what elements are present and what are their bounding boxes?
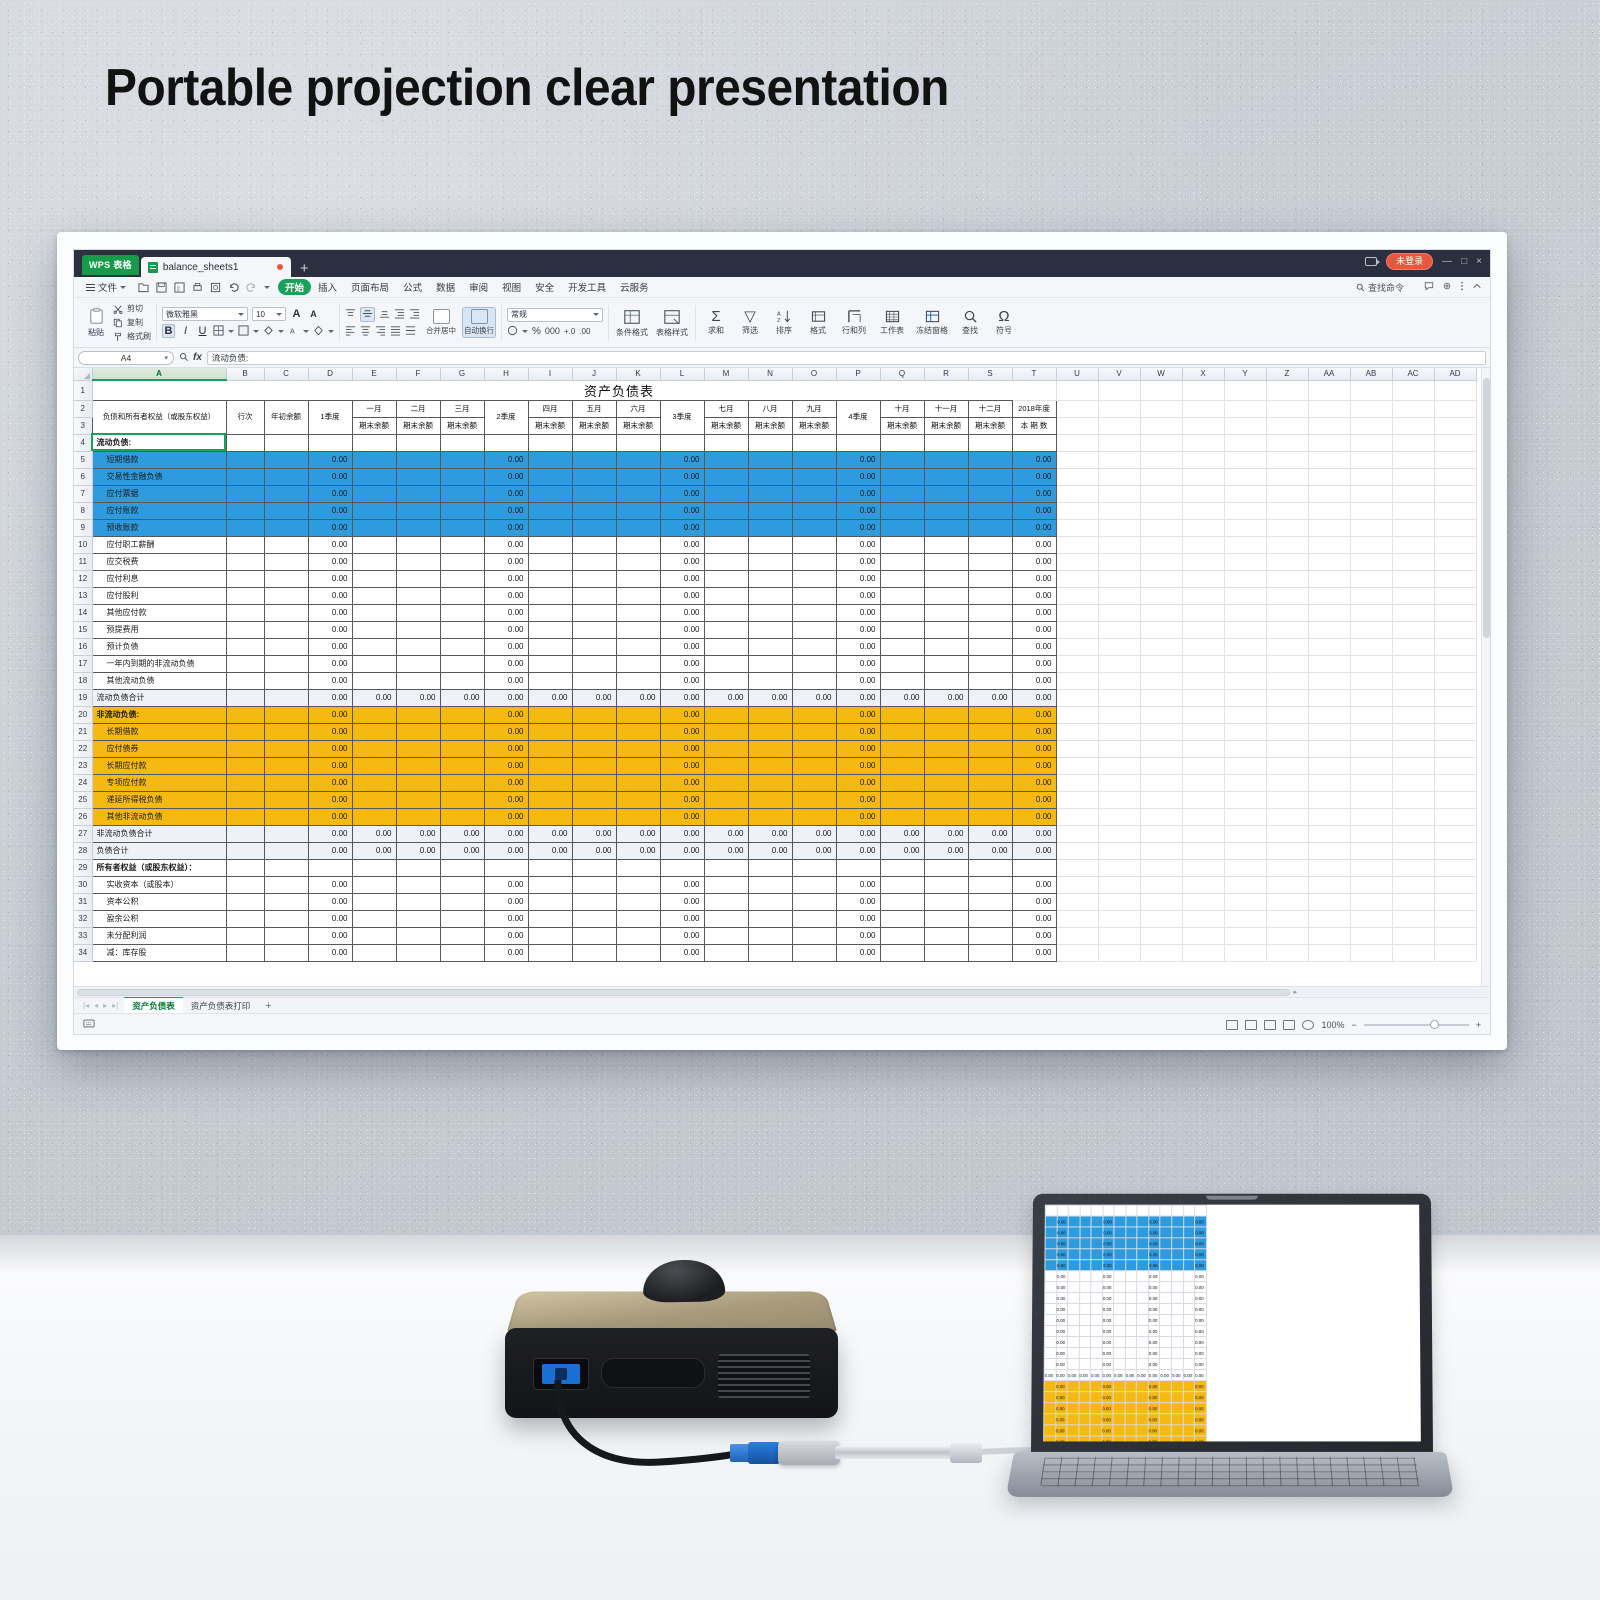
cell-D8[interactable]: 0.00 — [308, 502, 352, 519]
fx-icon[interactable]: fx — [193, 352, 202, 363]
cell-AB28[interactable] — [1350, 842, 1392, 859]
cell-N5[interactable] — [748, 451, 792, 468]
cell-U21[interactable] — [1056, 723, 1098, 740]
cell-AA8[interactable] — [1308, 502, 1350, 519]
row-header-25[interactable]: 25 — [74, 791, 92, 808]
cell-AC6[interactable] — [1392, 468, 1434, 485]
cell-S11[interactable] — [968, 553, 1012, 570]
cell-F26[interactable] — [396, 808, 440, 825]
cell-Z30[interactable] — [1266, 876, 1308, 893]
cell-V33[interactable] — [1098, 927, 1140, 944]
cell-C25[interactable] — [264, 791, 308, 808]
bold-button[interactable]: B — [162, 324, 175, 338]
first-sheet-icon[interactable]: |◂ — [83, 1001, 89, 1010]
formula-input[interactable]: 流动负债: — [207, 351, 1486, 365]
header-cell[interactable]: 十月 — [880, 400, 924, 417]
row-header-9[interactable]: 9 — [74, 519, 92, 536]
cell-F34[interactable] — [396, 944, 440, 961]
cell-F23[interactable] — [396, 757, 440, 774]
cell-T6[interactable]: 0.00 — [1012, 468, 1056, 485]
cell-S7[interactable] — [968, 485, 1012, 502]
cell-D17[interactable]: 0.00 — [308, 655, 352, 672]
cell-O34[interactable] — [792, 944, 836, 961]
cell-G10[interactable] — [440, 536, 484, 553]
cell-B7[interactable] — [226, 485, 264, 502]
cell-AB24[interactable] — [1350, 774, 1392, 791]
cell-R29[interactable] — [924, 859, 968, 876]
cell-F27[interactable]: 0.00 — [396, 825, 440, 842]
cell-AC26[interactable] — [1392, 808, 1434, 825]
cell-H12[interactable]: 0.00 — [484, 570, 528, 587]
cell-AC1[interactable] — [1392, 380, 1434, 400]
cell-X34[interactable] — [1182, 944, 1224, 961]
cell-Z22[interactable] — [1266, 740, 1308, 757]
cell-G15[interactable] — [440, 621, 484, 638]
cell-AC9[interactable] — [1392, 519, 1434, 536]
cell-Y1[interactable] — [1224, 380, 1266, 400]
cell-F13[interactable] — [396, 587, 440, 604]
cell-T34[interactable]: 0.00 — [1012, 944, 1056, 961]
cell-AB11[interactable] — [1350, 553, 1392, 570]
cell-AC11[interactable] — [1392, 553, 1434, 570]
cell-G11[interactable] — [440, 553, 484, 570]
cell-D32[interactable]: 0.00 — [308, 910, 352, 927]
row-label-29[interactable]: 所有者权益（或股东权益）： — [92, 859, 226, 876]
underline-button[interactable]: U — [196, 325, 209, 337]
column-header-C[interactable]: C — [264, 368, 308, 380]
cell-K13[interactable] — [616, 587, 660, 604]
cell-V3[interactable] — [1098, 417, 1140, 434]
cell-T18[interactable]: 0.00 — [1012, 672, 1056, 689]
cell-W27[interactable] — [1140, 825, 1182, 842]
cell-AA20[interactable] — [1308, 706, 1350, 723]
cell-B23[interactable] — [226, 757, 264, 774]
cell-X17[interactable] — [1182, 655, 1224, 672]
cell-T10[interactable]: 0.00 — [1012, 536, 1056, 553]
keyboard-shortcut-icon[interactable] — [83, 1016, 95, 1034]
header-cell[interactable]: 六月 — [616, 400, 660, 417]
cell-AC29[interactable] — [1392, 859, 1434, 876]
cell-V16[interactable] — [1098, 638, 1140, 655]
cell-S32[interactable] — [968, 910, 1012, 927]
cell-R28[interactable]: 0.00 — [924, 842, 968, 859]
cell-Q5[interactable] — [880, 451, 924, 468]
cell-H10[interactable]: 0.00 — [484, 536, 528, 553]
row-header-20[interactable]: 20 — [74, 706, 92, 723]
cell-G21[interactable] — [440, 723, 484, 740]
cell-N17[interactable] — [748, 655, 792, 672]
cell-K16[interactable] — [616, 638, 660, 655]
cell-L29[interactable] — [660, 859, 704, 876]
cell-I17[interactable] — [528, 655, 572, 672]
spreadsheet-grid[interactable]: ABCDEFGHIJKLMNOPQRSTUVWXYZAAABACAD1资产负债表… — [74, 368, 1490, 986]
cell-J24[interactable] — [572, 774, 616, 791]
tab-data[interactable]: 数据 — [429, 279, 462, 295]
cell-E16[interactable] — [352, 638, 396, 655]
cell-V8[interactable] — [1098, 502, 1140, 519]
cell-U32[interactable] — [1056, 910, 1098, 927]
cell-U11[interactable] — [1056, 553, 1098, 570]
cell-F25[interactable] — [396, 791, 440, 808]
cell-I5[interactable] — [528, 451, 572, 468]
cell-G5[interactable] — [440, 451, 484, 468]
cell-T4[interactable] — [1012, 434, 1056, 451]
cell-O20[interactable] — [792, 706, 836, 723]
cell-AD4[interactable] — [1434, 434, 1476, 451]
cell-O17[interactable] — [792, 655, 836, 672]
cell-AC32[interactable] — [1392, 910, 1434, 927]
header-cell[interactable]: 四月 — [528, 400, 572, 417]
cell-U9[interactable] — [1056, 519, 1098, 536]
cell-K32[interactable] — [616, 910, 660, 927]
cell-C10[interactable] — [264, 536, 308, 553]
cell-K18[interactable] — [616, 672, 660, 689]
cell-P15[interactable]: 0.00 — [836, 621, 880, 638]
row-label-24[interactable]: 专项应付款 — [92, 774, 226, 791]
cell-Z18[interactable] — [1266, 672, 1308, 689]
cell-B21[interactable] — [226, 723, 264, 740]
cell-J12[interactable] — [572, 570, 616, 587]
cell-L25[interactable]: 0.00 — [660, 791, 704, 808]
column-header-AA[interactable]: AA — [1308, 368, 1350, 380]
cell-N25[interactable] — [748, 791, 792, 808]
cell-K27[interactable]: 0.00 — [616, 825, 660, 842]
tab-security[interactable]: 安全 — [528, 279, 561, 295]
cell-F29[interactable] — [396, 859, 440, 876]
cell-C19[interactable] — [264, 689, 308, 706]
cell-S29[interactable] — [968, 859, 1012, 876]
table-row[interactable]: 34减：库存股0.000.000.000.000.00 — [74, 944, 1476, 961]
cell-Q11[interactable] — [880, 553, 924, 570]
row-header-33[interactable]: 33 — [74, 927, 92, 944]
cell-V6[interactable] — [1098, 468, 1140, 485]
cell-S22[interactable] — [968, 740, 1012, 757]
cell-U26[interactable] — [1056, 808, 1098, 825]
cell-O30[interactable] — [792, 876, 836, 893]
cell-style-button[interactable] — [238, 325, 249, 338]
cell-AD19[interactable] — [1434, 689, 1476, 706]
cell-H9[interactable]: 0.00 — [484, 519, 528, 536]
decrease-indent-button[interactable] — [394, 308, 405, 321]
cell-T15[interactable]: 0.00 — [1012, 621, 1056, 638]
column-header-B[interactable]: B — [226, 368, 264, 380]
cell-I33[interactable] — [528, 927, 572, 944]
cell-C18[interactable] — [264, 672, 308, 689]
cell-AB6[interactable] — [1350, 468, 1392, 485]
cell-T32[interactable]: 0.00 — [1012, 910, 1056, 927]
last-sheet-icon[interactable]: ▸| — [112, 1001, 118, 1010]
cell-Z8[interactable] — [1266, 502, 1308, 519]
table-row[interactable]: 9预收账款0.000.000.000.000.00 — [74, 519, 1476, 536]
header-cell[interactable]: 期末余额 — [572, 417, 616, 434]
cell-D22[interactable]: 0.00 — [308, 740, 352, 757]
cell-R31[interactable] — [924, 893, 968, 910]
header-cell[interactable]: 期末余额 — [528, 417, 572, 434]
row-label-16[interactable]: 预计负债 — [92, 638, 226, 655]
table-row[interactable]: 18其他流动负债0.000.000.000.000.00 — [74, 672, 1476, 689]
cell-G30[interactable] — [440, 876, 484, 893]
zoom-formula-icon[interactable] — [179, 352, 189, 364]
cell-X5[interactable] — [1182, 451, 1224, 468]
cell-AD1[interactable] — [1434, 380, 1476, 400]
cell-E15[interactable] — [352, 621, 396, 638]
cell-B16[interactable] — [226, 638, 264, 655]
cell-O26[interactable] — [792, 808, 836, 825]
cell-Y26[interactable] — [1224, 808, 1266, 825]
cell-P34[interactable]: 0.00 — [836, 944, 880, 961]
cell-T17[interactable]: 0.00 — [1012, 655, 1056, 672]
cell-X23[interactable] — [1182, 757, 1224, 774]
horizontal-scroll-thumb[interactable] — [77, 989, 1290, 996]
cell-V5[interactable] — [1098, 451, 1140, 468]
cell-L7[interactable]: 0.00 — [660, 485, 704, 502]
cell-E29[interactable] — [352, 859, 396, 876]
cell-Z21[interactable] — [1266, 723, 1308, 740]
cell-L21[interactable]: 0.00 — [660, 723, 704, 740]
cell-N30[interactable] — [748, 876, 792, 893]
cell-AD22[interactable] — [1434, 740, 1476, 757]
cell-AB10[interactable] — [1350, 536, 1392, 553]
cell-W3[interactable] — [1140, 417, 1182, 434]
vertical-scroll-thumb[interactable] — [1483, 378, 1490, 638]
row-label-5[interactable]: 短期借款 — [92, 451, 226, 468]
chevron-down-icon[interactable] — [253, 330, 259, 333]
cell-Y18[interactable] — [1224, 672, 1266, 689]
table-row[interactable]: 26其他非流动负债0.000.000.000.000.00 — [74, 808, 1476, 825]
cell-L18[interactable]: 0.00 — [660, 672, 704, 689]
row-label-10[interactable]: 应付职工薪酬 — [92, 536, 226, 553]
cell-Z15[interactable] — [1266, 621, 1308, 638]
header-cell[interactable]: 二月 — [396, 400, 440, 417]
cell-U17[interactable] — [1056, 655, 1098, 672]
cell-X6[interactable] — [1182, 468, 1224, 485]
collapse-ribbon-icon[interactable] — [1472, 281, 1482, 294]
cell-K23[interactable] — [616, 757, 660, 774]
cell-B18[interactable] — [226, 672, 264, 689]
table-row[interactable]: 14其他应付款0.000.000.000.000.00 — [74, 604, 1476, 621]
cell-W7[interactable] — [1140, 485, 1182, 502]
header-cell[interactable]: 期末余额 — [880, 417, 924, 434]
cell-F32[interactable] — [396, 910, 440, 927]
cell-X19[interactable] — [1182, 689, 1224, 706]
cell-K21[interactable] — [616, 723, 660, 740]
chevron-down-icon[interactable] — [278, 330, 284, 333]
cell-C11[interactable] — [264, 553, 308, 570]
cell-M19[interactable]: 0.00 — [704, 689, 748, 706]
header-cell[interactable]: 本 期 数 — [1012, 417, 1056, 434]
cell-V18[interactable] — [1098, 672, 1140, 689]
header-opening[interactable]: 年初余额 — [264, 400, 308, 434]
cell-I29[interactable] — [528, 859, 572, 876]
cell-N13[interactable] — [748, 587, 792, 604]
cell-W34[interactable] — [1140, 944, 1182, 961]
cell-Z11[interactable] — [1266, 553, 1308, 570]
cell-O29[interactable] — [792, 859, 836, 876]
merge-center-button[interactable]: 合并居中 — [424, 309, 458, 336]
cell-C4[interactable] — [264, 434, 308, 451]
row-label-9[interactable]: 预收账款 — [92, 519, 226, 536]
cell-AA26[interactable] — [1308, 808, 1350, 825]
cell-M25[interactable] — [704, 791, 748, 808]
cell-C23[interactable] — [264, 757, 308, 774]
table-row[interactable]: 31资本公积0.000.000.000.000.00 — [74, 893, 1476, 910]
cell-N10[interactable] — [748, 536, 792, 553]
header-q4[interactable]: 4季度 — [836, 400, 880, 434]
cell-B13[interactable] — [226, 587, 264, 604]
cell-AD12[interactable] — [1434, 570, 1476, 587]
cell-M12[interactable] — [704, 570, 748, 587]
cell-AC21[interactable] — [1392, 723, 1434, 740]
cell-D14[interactable]: 0.00 — [308, 604, 352, 621]
cell-L13[interactable]: 0.00 — [660, 587, 704, 604]
table-row[interactable]: 33未分配利润0.000.000.000.000.00 — [74, 927, 1476, 944]
cell-B14[interactable] — [226, 604, 264, 621]
cell-AD27[interactable] — [1434, 825, 1476, 842]
cell-R33[interactable] — [924, 927, 968, 944]
cell-E27[interactable]: 0.00 — [352, 825, 396, 842]
cell-Y31[interactable] — [1224, 893, 1266, 910]
cell-Q16[interactable] — [880, 638, 924, 655]
cell-L22[interactable]: 0.00 — [660, 740, 704, 757]
column-header-X[interactable]: X — [1182, 368, 1224, 380]
cell-S25[interactable] — [968, 791, 1012, 808]
cell-U20[interactable] — [1056, 706, 1098, 723]
column-header-H[interactable]: H — [484, 368, 528, 380]
cell-O6[interactable] — [792, 468, 836, 485]
cell-AA5[interactable] — [1308, 451, 1350, 468]
worksheet-button[interactable]: 工作表 — [875, 309, 909, 336]
sheet-tab-balance[interactable]: 资产负债表 — [124, 997, 183, 1014]
number-format-select[interactable]: 常规 — [507, 308, 603, 322]
cell-AB1[interactable] — [1350, 380, 1392, 400]
row-label-8[interactable]: 应付账款 — [92, 502, 226, 519]
cell-H29[interactable] — [484, 859, 528, 876]
cell-I16[interactable] — [528, 638, 572, 655]
cell-F6[interactable] — [396, 468, 440, 485]
cell-W25[interactable] — [1140, 791, 1182, 808]
cell-I15[interactable] — [528, 621, 572, 638]
cell-AD32[interactable] — [1434, 910, 1476, 927]
cell-M7[interactable] — [704, 485, 748, 502]
cell-J16[interactable] — [572, 638, 616, 655]
cell-V9[interactable] — [1098, 519, 1140, 536]
cell-I22[interactable] — [528, 740, 572, 757]
cell-AB31[interactable] — [1350, 893, 1392, 910]
cell-R25[interactable] — [924, 791, 968, 808]
column-header-D[interactable]: D — [308, 368, 352, 380]
cell-T23[interactable]: 0.00 — [1012, 757, 1056, 774]
cell-P11[interactable]: 0.00 — [836, 553, 880, 570]
cell-Z31[interactable] — [1266, 893, 1308, 910]
cell-B28[interactable] — [226, 842, 264, 859]
cell-I11[interactable] — [528, 553, 572, 570]
cell-E5[interactable] — [352, 451, 396, 468]
cell-C6[interactable] — [264, 468, 308, 485]
cell-G7[interactable] — [440, 485, 484, 502]
chevron-down-icon[interactable] — [228, 330, 234, 333]
cell-C7[interactable] — [264, 485, 308, 502]
cell-AB15[interactable] — [1350, 621, 1392, 638]
cell-F14[interactable] — [396, 604, 440, 621]
cell-G9[interactable] — [440, 519, 484, 536]
cell-AD14[interactable] — [1434, 604, 1476, 621]
qat-chevron-icon[interactable] — [264, 286, 270, 289]
column-header-J[interactable]: J — [572, 368, 616, 380]
cell-Z27[interactable] — [1266, 825, 1308, 842]
cell-F9[interactable] — [396, 519, 440, 536]
cell-K14[interactable] — [616, 604, 660, 621]
cell-M31[interactable] — [704, 893, 748, 910]
cell-K8[interactable] — [616, 502, 660, 519]
cell-R12[interactable] — [924, 570, 968, 587]
cell-O23[interactable] — [792, 757, 836, 774]
cell-Q10[interactable] — [880, 536, 924, 553]
header-line-no[interactable]: 行次 — [226, 400, 264, 434]
settings-gear-icon[interactable] — [1442, 281, 1452, 294]
row-label-7[interactable]: 应付票据 — [92, 485, 226, 502]
cell-Z16[interactable] — [1266, 638, 1308, 655]
cell-L4[interactable] — [660, 434, 704, 451]
sheet-table[interactable]: ABCDEFGHIJKLMNOPQRSTUVWXYZAAABACAD1资产负债表… — [74, 368, 1477, 962]
cell-AD16[interactable] — [1434, 638, 1476, 655]
row-header-26[interactable]: 26 — [74, 808, 92, 825]
cell-AC14[interactable] — [1392, 604, 1434, 621]
cell-I6[interactable] — [528, 468, 572, 485]
cell-W2[interactable] — [1140, 400, 1182, 417]
cell-J21[interactable] — [572, 723, 616, 740]
cell-S33[interactable] — [968, 927, 1012, 944]
cell-AB25[interactable] — [1350, 791, 1392, 808]
header-cell[interactable]: 期末余额 — [792, 417, 836, 434]
cell-X10[interactable] — [1182, 536, 1224, 553]
feedback-icon[interactable] — [1424, 281, 1434, 294]
cell-U19[interactable] — [1056, 689, 1098, 706]
cell-R16[interactable] — [924, 638, 968, 655]
cell-S10[interactable] — [968, 536, 1012, 553]
column-header-P[interactable]: P — [836, 368, 880, 380]
cell-F31[interactable] — [396, 893, 440, 910]
column-header-S[interactable]: S — [968, 368, 1012, 380]
cell-T22[interactable]: 0.00 — [1012, 740, 1056, 757]
cell-P16[interactable]: 0.00 — [836, 638, 880, 655]
column-header-Y[interactable]: Y — [1224, 368, 1266, 380]
cell-O8[interactable] — [792, 502, 836, 519]
table-row[interactable]: 32盈余公积0.000.000.000.000.00 — [74, 910, 1476, 927]
cell-AA10[interactable] — [1308, 536, 1350, 553]
cell-W24[interactable] — [1140, 774, 1182, 791]
cell-I30[interactable] — [528, 876, 572, 893]
table-row[interactable]: 10应付职工薪酬0.000.000.000.000.00 — [74, 536, 1476, 553]
cell-M13[interactable] — [704, 587, 748, 604]
header-cell[interactable]: 期末余额 — [968, 417, 1012, 434]
cell-D24[interactable]: 0.00 — [308, 774, 352, 791]
cell-M21[interactable] — [704, 723, 748, 740]
cell-AA2[interactable] — [1308, 400, 1350, 417]
cell-C13[interactable] — [264, 587, 308, 604]
horizontal-scrollbar[interactable]: ▸ — [74, 986, 1490, 997]
cell-V24[interactable] — [1098, 774, 1140, 791]
cell-P18[interactable]: 0.00 — [836, 672, 880, 689]
cell-Y21[interactable] — [1224, 723, 1266, 740]
cell-O21[interactable] — [792, 723, 836, 740]
header-cell[interactable]: 期末余额 — [440, 417, 484, 434]
cell-G19[interactable]: 0.00 — [440, 689, 484, 706]
cell-M5[interactable] — [704, 451, 748, 468]
cell-E10[interactable] — [352, 536, 396, 553]
column-header-F[interactable]: F — [396, 368, 440, 380]
cell-F33[interactable] — [396, 927, 440, 944]
cell-M17[interactable] — [704, 655, 748, 672]
